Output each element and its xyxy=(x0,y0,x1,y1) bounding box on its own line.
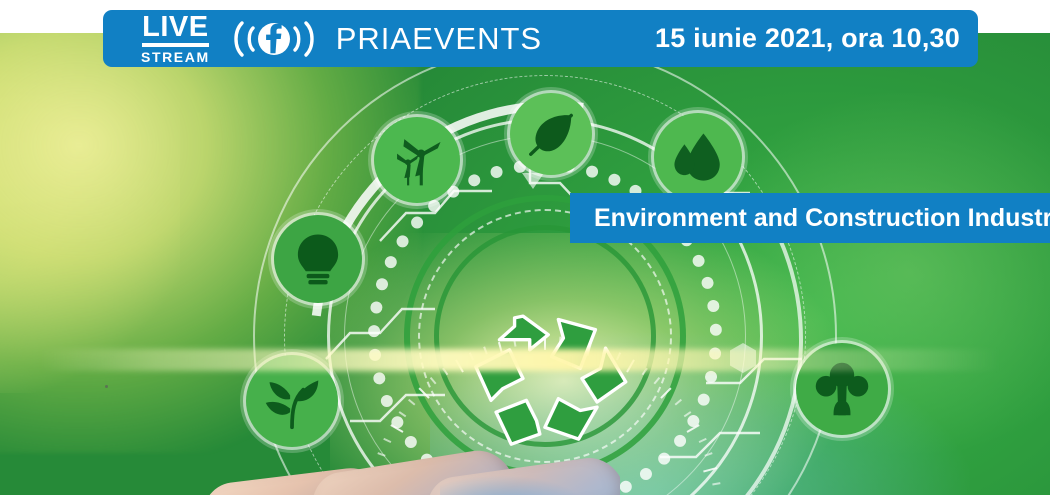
top-banner: LIVE STREAM PRIAEVENTS 15 iunie 2021, or… xyxy=(103,10,978,67)
recycle-icon xyxy=(470,301,640,461)
brand-label: PRIAEVENTS xyxy=(336,21,542,57)
facebook-icon xyxy=(226,15,322,63)
stray-dot xyxy=(105,385,108,388)
wind-turbine-icon xyxy=(374,117,460,203)
hand-glow xyxy=(440,475,590,495)
event-date-label: 15 iunie 2021, ora 10,30 xyxy=(655,23,960,54)
title-banner: Environment and Construction Industry xyxy=(570,193,1050,243)
page-title: Environment and Construction Industry xyxy=(594,204,1050,233)
live-stream-logo: LIVE STREAM xyxy=(141,13,210,64)
promo-banner-stage: LIVE STREAM PRIAEVENTS 15 iunie 2021, or… xyxy=(0,0,1050,495)
light-bulb-icon xyxy=(274,215,362,303)
live-label: LIVE xyxy=(142,13,208,47)
light-beam xyxy=(40,349,1000,371)
background-photo xyxy=(0,33,1050,495)
hand-graphic xyxy=(190,445,620,495)
stream-label: STREAM xyxy=(141,50,210,64)
leaf-icon xyxy=(510,93,592,175)
water-drop-icon xyxy=(654,113,742,201)
